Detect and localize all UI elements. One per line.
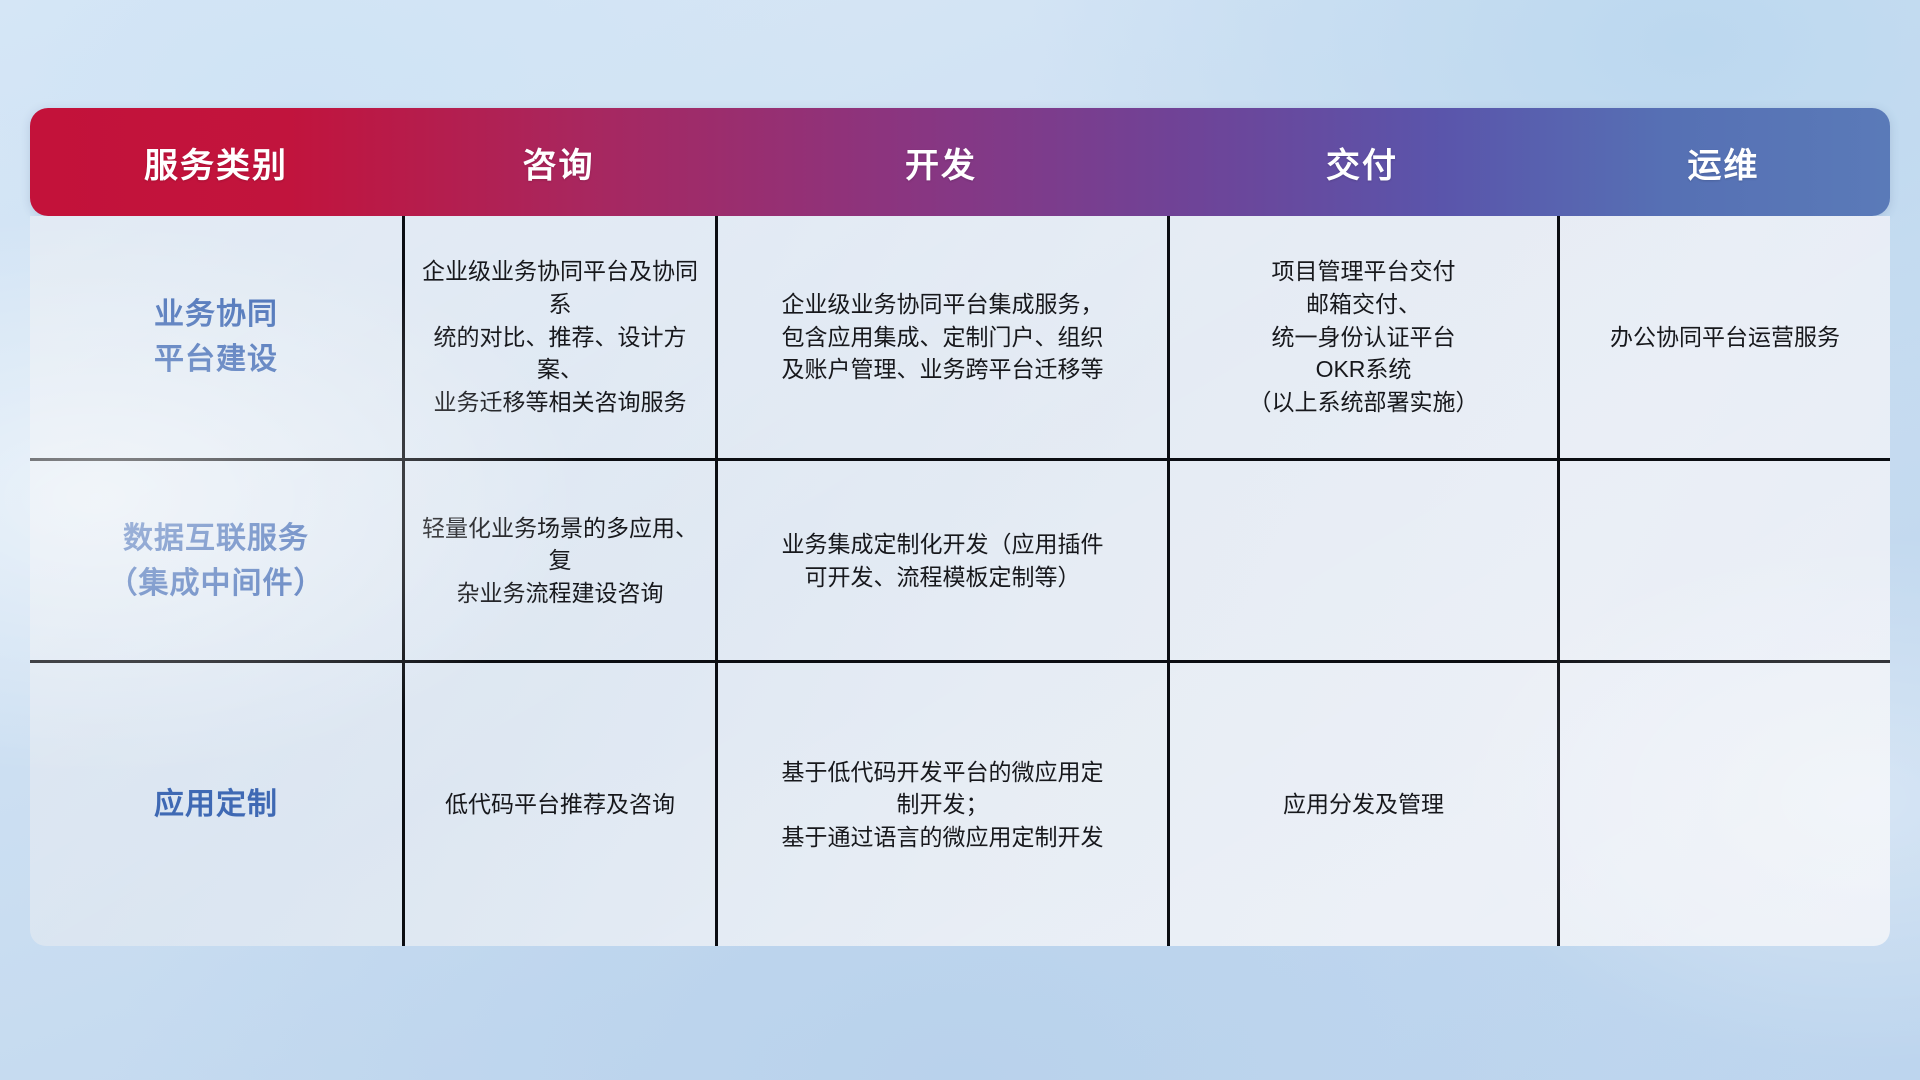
- table-header-row: 服务类别 咨询 开发 交付 运维: [30, 108, 1890, 216]
- cell-delivery-row2: [1167, 461, 1557, 660]
- column-header-consulting: 咨询: [402, 108, 715, 216]
- column-header-operations: 运维: [1557, 108, 1890, 216]
- cell-consulting-row3: 低代码平台推荐及咨询: [402, 663, 715, 946]
- row-label-app-customization: 应用定制: [30, 663, 402, 946]
- cell-operations-row1: 办公协同平台运营服务: [1557, 216, 1890, 458]
- service-matrix-table: 服务类别 咨询 开发 交付 运维 业务协同 平台建设 企业级业务协同平台及协同系…: [30, 108, 1890, 946]
- cell-operations-row2: [1557, 461, 1890, 660]
- cell-development-row2: 业务集成定制化开发（应用插件 可开发、流程模板定制等）: [715, 461, 1167, 660]
- cell-delivery-row3: 应用分发及管理: [1167, 663, 1557, 946]
- cell-delivery-row1: 项目管理平台交付 邮箱交付、 统一身份认证平台 OKR系统 （以上系统部署实施）: [1167, 216, 1557, 458]
- column-header-development: 开发: [715, 108, 1167, 216]
- cell-development-row3: 基于低代码开发平台的微应用定 制开发； 基于通过语言的微应用定制开发: [715, 663, 1167, 946]
- table-body: 业务协同 平台建设 企业级业务协同平台及协同系 统的对比、推荐、设计方案、 业务…: [30, 216, 1890, 946]
- column-header-delivery: 交付: [1167, 108, 1557, 216]
- table-row: 业务协同 平台建设 企业级业务协同平台及协同系 统的对比、推荐、设计方案、 业务…: [30, 216, 1890, 461]
- row-label-data-integration: 数据互联服务 （集成中间件）: [30, 461, 402, 660]
- table-row: 应用定制 低代码平台推荐及咨询 基于低代码开发平台的微应用定 制开发； 基于通过…: [30, 663, 1890, 946]
- row-label-business-collaboration: 业务协同 平台建设: [30, 216, 402, 458]
- column-header-category: 服务类别: [30, 108, 402, 216]
- slide-canvas: 服务类别 咨询 开发 交付 运维 业务协同 平台建设 企业级业务协同平台及协同系…: [0, 0, 1920, 1080]
- cell-consulting-row2: 轻量化业务场景的多应用、复 杂业务流程建设咨询: [402, 461, 715, 660]
- cell-consulting-row1: 企业级业务协同平台及协同系 统的对比、推荐、设计方案、 业务迁移等相关咨询服务: [402, 216, 715, 458]
- cell-operations-row3: [1557, 663, 1890, 946]
- cell-development-row1: 企业级业务协同平台集成服务， 包含应用集成、定制门户、组织 及账户管理、业务跨平…: [715, 216, 1167, 458]
- table-row: 数据互联服务 （集成中间件） 轻量化业务场景的多应用、复 杂业务流程建设咨询 业…: [30, 461, 1890, 663]
